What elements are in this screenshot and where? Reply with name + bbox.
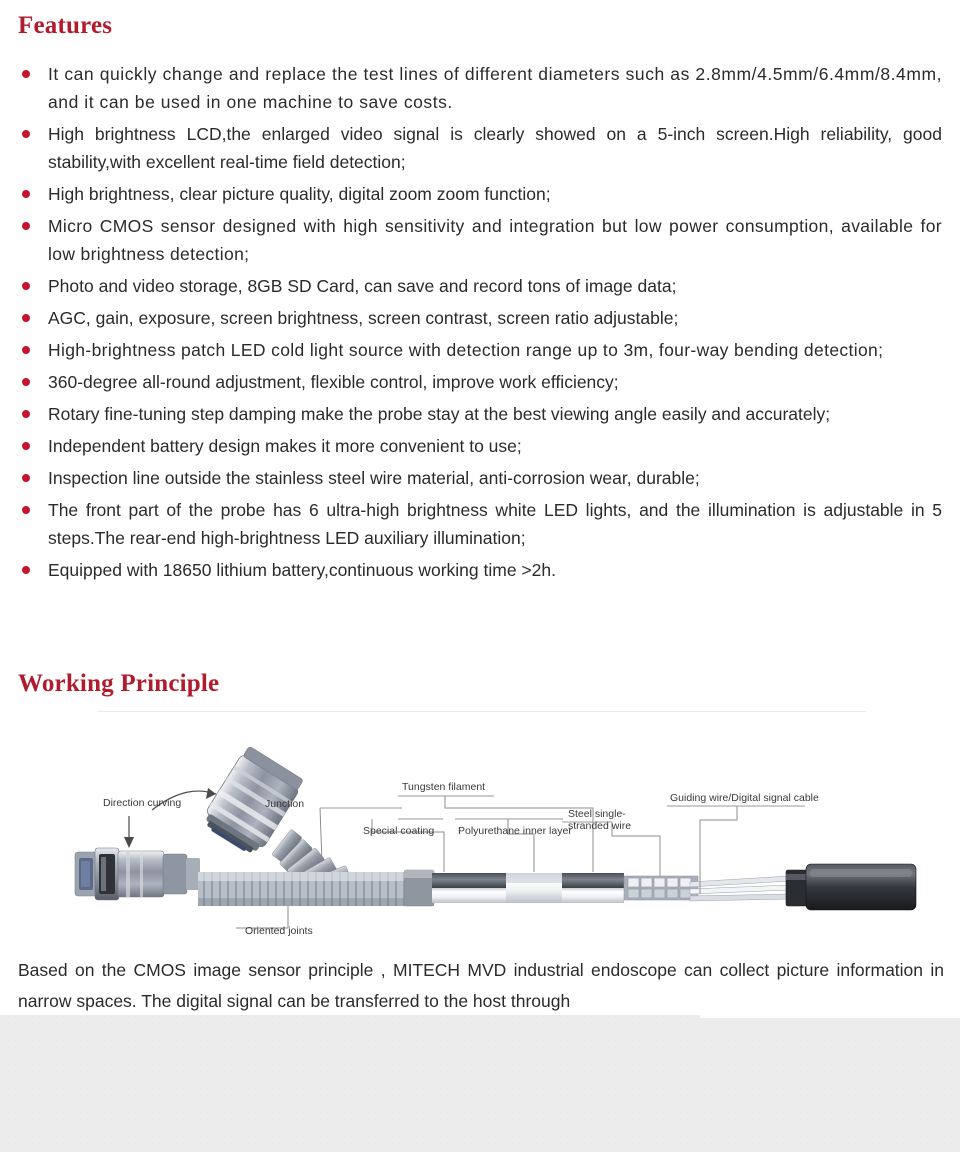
bullet-icon	[22, 410, 30, 418]
label-steel-single: Steel single-	[568, 808, 626, 820]
camera-head-group	[75, 848, 200, 900]
bullet-icon	[22, 442, 30, 450]
label-special-coating: Special coating	[363, 825, 434, 837]
feature-item-text: AGC, gain, exposure, screen brightness, …	[48, 308, 678, 328]
feature-item-text: Micro CMOS sensor designed with high sen…	[48, 216, 942, 264]
endoscope-probe-diagram: Direction curving Junction Oriented join…	[0, 706, 960, 946]
bullet-icon	[22, 474, 30, 482]
feature-item: AGC, gain, exposure, screen brightness, …	[0, 304, 960, 336]
label-polyurethane-inner-layer: Polyurethane inner layer	[458, 825, 572, 837]
feature-item: The front part of the probe has 6 ultra-…	[0, 496, 960, 556]
feature-item: Inspection line outside the stainless st…	[0, 464, 960, 496]
bullet-icon	[22, 282, 30, 290]
bullet-icon	[22, 506, 30, 514]
label-oriented-joints: Oriented joints	[245, 925, 313, 937]
working-principle-heading: Working Principle	[18, 670, 219, 698]
label-stranded-wire: stranded wire	[568, 820, 631, 832]
features-heading: Features	[18, 12, 112, 40]
feature-item-text: Independent battery design makes it more…	[48, 436, 522, 456]
feature-item: Rotary fine-tuning step damping make the…	[0, 400, 960, 432]
feature-item: Micro CMOS sensor designed with high sen…	[0, 212, 960, 272]
document-page: Features It can quickly change and repla…	[0, 0, 960, 1015]
feature-item-text: Rotary fine-tuning step damping make the…	[48, 404, 830, 424]
feature-item: High brightness LCD,the enlarged video s…	[0, 120, 960, 180]
label-guiding-wire: Guiding wire/Digital signal cable	[670, 792, 819, 804]
feature-item-text: 360-degree all-round adjustment, flexibl…	[48, 372, 619, 392]
feature-item-text: Inspection line outside the stainless st…	[48, 468, 700, 488]
feature-item-text: Photo and video storage, 8GB SD Card, ca…	[48, 276, 676, 296]
feature-item-text: High-brightness patch LED cold light sou…	[48, 340, 883, 360]
steel-braid-group	[624, 876, 698, 900]
guiding-wire-strands-group	[690, 876, 790, 901]
feature-item-text: High brightness, clear picture quality, …	[48, 184, 551, 204]
label-junction: Junction	[265, 798, 304, 810]
bullet-icon	[22, 314, 30, 322]
bullet-icon	[22, 566, 30, 574]
features-list: It can quickly change and replace the te…	[0, 60, 960, 588]
flexible-coil-tube-group	[198, 872, 410, 906]
probe-diagram-svg: Direction curving Junction Oriented join…	[0, 706, 960, 946]
bullet-icon	[22, 222, 30, 230]
feature-item: Independent battery design makes it more…	[0, 432, 960, 464]
feature-item: Equipped with 18650 lithium battery,cont…	[0, 556, 960, 588]
bullet-icon	[22, 346, 30, 354]
feature-item: Photo and video storage, 8GB SD Card, ca…	[0, 272, 960, 304]
bullet-icon	[22, 130, 30, 138]
feature-item: High-brightness patch LED cold light sou…	[0, 336, 960, 368]
bullet-icon	[22, 378, 30, 386]
feature-item: 360-degree all-round adjustment, flexibl…	[0, 368, 960, 400]
page-sheet-edge	[700, 1013, 960, 1018]
bullet-icon	[22, 190, 30, 198]
feature-item-text: High brightness LCD,the enlarged video s…	[48, 124, 942, 172]
bullet-icon	[22, 70, 30, 78]
feature-item-text: The front part of the probe has 6 ultra-…	[48, 500, 942, 548]
feature-item-text: It can quickly change and replace the te…	[48, 64, 942, 112]
feature-item: It can quickly change and replace the te…	[0, 60, 960, 120]
label-direction-curving: Direction curving	[103, 797, 181, 809]
feature-item-text: Equipped with 18650 lithium battery,cont…	[48, 560, 556, 580]
working-principle-paragraph: Based on the CMOS image sensor principle…	[18, 955, 944, 1015]
label-tungsten-filament: Tungsten filament	[402, 781, 485, 793]
feature-item: High brightness, clear picture quality, …	[0, 180, 960, 212]
